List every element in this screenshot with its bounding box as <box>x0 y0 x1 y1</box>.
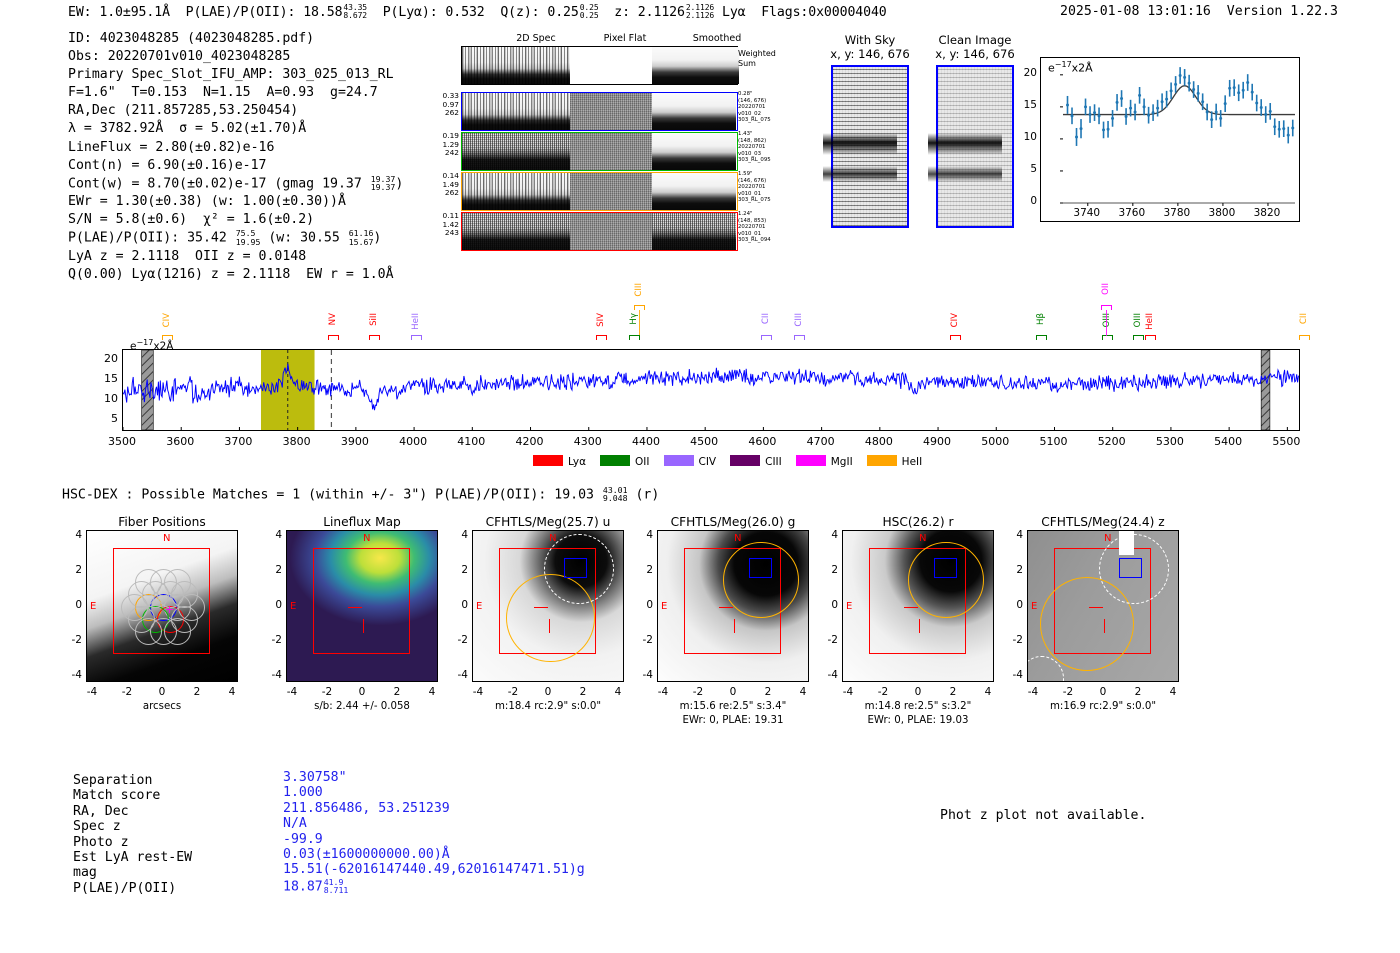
cutout-ytick: 0 <box>633 599 653 611</box>
header-summary-line: EW: 1.0±95.1Å P(LAE)/P(OII): 18.5843.358… <box>68 4 887 20</box>
aperture-box <box>313 548 410 654</box>
cutout-ytick: -4 <box>1003 669 1023 681</box>
hscdex-text-b: (r) <box>628 487 660 502</box>
spectrum-xtick: 5400 <box>1202 435 1254 448</box>
compass-north: N <box>363 533 370 544</box>
fiber1-pixelflat <box>570 93 652 130</box>
cutout-ytick: 2 <box>62 564 82 576</box>
info-plae-bounds: 75.519.95 <box>236 229 261 246</box>
source-ellipse <box>723 542 799 618</box>
match-table-labels: SeparationMatch scoreRA, DecSpec zPhoto … <box>73 773 192 896</box>
emission-bracket <box>596 335 607 340</box>
cutout-xtick: 0 <box>1088 686 1118 698</box>
spectrum-xtick: 3800 <box>271 435 323 448</box>
fiber2-smoothed <box>652 133 736 170</box>
spectrum-xtick: 4100 <box>445 435 497 448</box>
cutout-xtick: 4 <box>1158 686 1188 698</box>
cutout-ytick: -2 <box>1003 634 1023 646</box>
cutout-title-1: Lineflux Map <box>262 515 462 529</box>
spectrum-ytick: 5 <box>92 412 118 425</box>
cutout-ytick: 4 <box>62 529 82 541</box>
cutout-ytick: -2 <box>633 634 653 646</box>
header-z-bounds: 2.11262.1126 <box>686 4 714 20</box>
emission-label-ciii: CIII <box>794 313 804 327</box>
cutout-caption-1: s/b: 2.44 +/- 0.058 <box>256 701 468 712</box>
full-spectrum-units: e−17x2Å <box>130 338 173 353</box>
emission-bracket <box>411 335 422 340</box>
weighted-sum-row <box>461 46 738 85</box>
emission-bracket <box>761 335 772 340</box>
cutout-xtick: 2 <box>938 686 968 698</box>
legend-label: MgII <box>831 456 853 468</box>
legend-item-lyα: Lyα <box>533 456 586 468</box>
emission-label-cii: CII <box>761 313 771 324</box>
hscdex-text-a: HSC-DEX : Possible Matches = 1 (within +… <box>62 487 602 502</box>
gmag-bounds: 19.3719.37 <box>371 175 396 192</box>
clean-image-panel: Clean Image x, y: 146, 676 <box>925 33 1025 228</box>
match-label-1: Match score <box>73 788 192 803</box>
info-sn: S/N = 5.8(±0.6) χ² = 1.6(±0.2) <box>68 211 403 229</box>
legend-swatch <box>600 455 630 466</box>
spectrum-xtick: 5000 <box>969 435 1021 448</box>
legend-swatch <box>796 455 826 466</box>
compass-north: N <box>163 533 170 544</box>
fiber-row-3-left-label: 0.14 1.49 262 <box>425 172 459 198</box>
cutout-ytick: 4 <box>818 529 838 541</box>
source-ellipse <box>908 542 984 618</box>
cutout-ytick: 0 <box>448 599 468 611</box>
emission-label-hγ: Hγ <box>629 313 639 325</box>
crosshair <box>919 619 920 633</box>
info-lambda: λ = 3782.92Å σ = 5.02(±1.70)Å <box>68 120 403 138</box>
zoom-xtick: 3800 <box>1202 207 1242 219</box>
cutout-image-5[interactable]: NE <box>1027 530 1179 682</box>
info-cont-w: Cont(w) = 8.70(±0.02)e-17 (gmag 19.37 19… <box>68 175 403 193</box>
fiber2-2dspec <box>462 133 570 170</box>
emission-bracket <box>1299 335 1310 340</box>
legend-label: CIV <box>699 456 717 468</box>
match-value-text: 1.000 <box>283 785 323 800</box>
header-plya: P(Lyα): 0.532 <box>383 5 485 20</box>
zoom-ytick: 10 <box>1019 131 1037 143</box>
spectrum-xtick: 4300 <box>562 435 614 448</box>
compass-east: E <box>476 601 482 612</box>
legend-item-heii: HeII <box>867 456 923 468</box>
weighted-sum-label: Weighted Sum <box>738 49 798 69</box>
spectrum-xtick: 5300 <box>1144 435 1196 448</box>
with-sky-subtitle: x, y: 146, 676 <box>820 47 920 61</box>
cutout-title-0: Fiber Positions <box>62 515 262 529</box>
emission-bracket <box>328 335 339 340</box>
emission-stem <box>1106 310 1107 336</box>
match-label-6: mag <box>73 865 192 880</box>
legend-item-mgii: MgII <box>796 456 853 468</box>
cutout-image-4[interactable]: NE <box>842 530 994 682</box>
spectrum-ytick: 15 <box>92 372 118 385</box>
spectrum-xtick: 4200 <box>504 435 556 448</box>
info-cont-n: Cont(n) = 6.90(±0.16)e-17 <box>68 157 403 175</box>
timestamp: 2025-01-08 13:01:16 <box>1060 4 1211 19</box>
emission-label-civ: CIV <box>162 313 172 327</box>
clean-image-title: Clean Image <box>925 33 1025 47</box>
compass-north: N <box>549 533 556 544</box>
match-value-text: 15.51(-62016147440.49,62016147471.51)g <box>283 862 585 877</box>
emission-stem <box>639 310 640 336</box>
fiber-row-2-right-label: 1.43" (148, 862) 20220701 v010_03 303_RL… <box>738 131 798 164</box>
zoom-plot-units: e−17x2Å <box>1048 60 1093 75</box>
cutout-xtick: -4 <box>463 686 493 698</box>
header-lya: Lyα <box>722 5 746 20</box>
fiber1-smoothed <box>652 93 736 130</box>
match-value-text: N/A <box>283 816 307 831</box>
cutout-ytick: 2 <box>448 564 468 576</box>
cutout-xtick: -4 <box>833 686 863 698</box>
cutout-ytick: 2 <box>1003 564 1023 576</box>
cutout-caption-2: EWr: 0, PLAE: 19.03 <box>812 715 1024 726</box>
cutout-ytick: 0 <box>1003 599 1023 611</box>
match-value-5: 0.03(±1600000000.00)Å <box>283 847 585 862</box>
info-obs: Obs: 20220701v010_4023048285 <box>68 48 403 66</box>
header-qz-bounds: 0.250.25 <box>580 4 599 20</box>
emission-bracket <box>1145 335 1156 340</box>
zoom-xtick: 3820 <box>1247 207 1287 219</box>
fiber4-pixelflat <box>570 213 652 250</box>
match-plae-bounds: 41.98.711 <box>324 878 349 895</box>
emission-label-oii: OII <box>1101 283 1111 295</box>
fiber-row-4-left-label: 0.11 1.42 243 <box>425 212 459 238</box>
fiber-row-4-right-label: 1.24" (148, 853) 20220701 v010_01 303_RL… <box>738 211 798 244</box>
cutout-ytick: -2 <box>448 634 468 646</box>
emission-label-oiii: OIII <box>1102 313 1112 327</box>
cutout-xtick: 0 <box>347 686 377 698</box>
emission-label-nv: NV <box>328 313 338 325</box>
cutout-xtick: 2 <box>753 686 783 698</box>
cutout-image-2[interactable]: NE <box>472 530 624 682</box>
spectrum-xtick: 3900 <box>329 435 381 448</box>
with-sky-trace-2 <box>823 166 897 182</box>
match-value-text: -99.9 <box>283 832 323 847</box>
cutout-ytick: 2 <box>818 564 838 576</box>
header-ew: EW: 1.0±95.1Å <box>68 5 170 20</box>
fiber3-2dspec <box>462 173 570 210</box>
cutout-ytick: 0 <box>818 599 838 611</box>
zoom-xtick: 3760 <box>1112 207 1152 219</box>
cutout-ytick: 0 <box>62 599 82 611</box>
legend-swatch <box>730 455 760 466</box>
fiber4-2dspec <box>462 213 570 250</box>
cutout-xtick: -2 <box>1053 686 1083 698</box>
spectrum-xtick: 3700 <box>212 435 264 448</box>
header-z: z: 2.1126 <box>614 5 685 20</box>
header-timestamp-version: 2025-01-08 13:01:16 Version 1.22.3 <box>1060 4 1338 19</box>
fiber-row-3 <box>461 172 738 211</box>
match-table-values: 3.30758"1.000211.856486, 53.251239N/A-99… <box>283 770 585 895</box>
emission-label-ciii: CIII <box>634 283 644 297</box>
with-sky-trace <box>823 133 897 155</box>
clean-image-subtitle: x, y: 146, 676 <box>925 47 1025 61</box>
cutout-title-3: CFHTLS/Meg(26.0) g <box>633 515 833 529</box>
emission-bracket <box>1036 335 1047 340</box>
cutout-ytick: 4 <box>633 529 653 541</box>
emission-label-oiii: OIII <box>1133 313 1143 327</box>
plae-lo: 8.711 <box>324 886 349 894</box>
cutout-caption-1: m:15.6 re:2.5" s:3.4" <box>627 701 839 712</box>
emission-bracket <box>950 335 961 340</box>
spectrum-xtick: 3500 <box>96 435 148 448</box>
cutout-xtick: 2 <box>568 686 598 698</box>
fiber-row-1-left-label: 0.33 0.97 262 <box>425 92 459 118</box>
cutout-ytick: -4 <box>262 669 282 681</box>
match-label-7: P(LAE)/P(OII) <box>73 881 192 896</box>
cutout-ytick: -2 <box>262 634 282 646</box>
weighted-sum-pixelflat <box>570 47 652 84</box>
cutout-xtick: 2 <box>182 686 212 698</box>
emission-bracket <box>369 335 380 340</box>
cutout-caption-1: arcsecs <box>56 701 268 712</box>
header-plae-bounds: 43.358.672 <box>343 4 367 20</box>
weighted-sum-smoothed <box>652 47 739 84</box>
cutout-image-3[interactable]: NE <box>657 530 809 682</box>
emission-bracket <box>1133 335 1144 340</box>
emission-label-civ: CIV <box>950 313 960 327</box>
crosshair <box>348 607 362 608</box>
cutout-ytick: -4 <box>633 669 653 681</box>
aperture-box <box>113 548 210 654</box>
cutout-image-0[interactable]: +NE <box>86 530 238 682</box>
dashed-aperture <box>1099 534 1169 604</box>
zoom-ytick: 15 <box>1019 99 1037 111</box>
cutout-ytick: 2 <box>633 564 653 576</box>
legend-swatch <box>867 455 897 466</box>
spectrum-xtick: 4400 <box>620 435 672 448</box>
hscdex-plae-bounds: 43.019.048 <box>603 486 628 503</box>
cutout-xtick: -2 <box>498 686 528 698</box>
cutout-xtick: 0 <box>718 686 748 698</box>
zoom-plot-frame <box>1040 57 1300 222</box>
dashed-aperture <box>544 534 614 604</box>
cutout-ytick: 4 <box>1003 529 1023 541</box>
spectrum-xtick: 4800 <box>853 435 905 448</box>
cutout-xtick: -4 <box>648 686 678 698</box>
header-plae-label: P(LAE)/P(OII): <box>186 5 296 20</box>
emission-bracket <box>1102 335 1113 340</box>
cutout-ytick: 4 <box>448 529 468 541</box>
spectrum-ytick: 20 <box>92 352 118 365</box>
info-lineflux: LineFlux = 2.80(±0.82)e-16 <box>68 139 403 157</box>
emission-bracket <box>629 335 640 340</box>
legend-label: OII <box>635 456 649 468</box>
emission-label-siv: SIV <box>596 313 606 327</box>
two-d-spectrum-panel: 2D Spec Pixel Flat Smoothed Weighted Sum… <box>425 33 765 258</box>
cutout-ytick: 4 <box>262 529 282 541</box>
spectrum-xtick: 4700 <box>795 435 847 448</box>
cutout-ytick: 0 <box>262 599 282 611</box>
cutout-xtick: 2 <box>1123 686 1153 698</box>
match-label-4: Photo z <box>73 835 192 850</box>
match-value-text: 211.856486, 53.251239 <box>283 801 450 816</box>
compass-north: N <box>919 533 926 544</box>
crosshair <box>734 619 735 633</box>
version: Version 1.22.3 <box>1227 4 1338 19</box>
compass-east: E <box>661 601 667 612</box>
cutout-xtick: 4 <box>603 686 633 698</box>
crosshair <box>904 607 918 608</box>
cutout-xtick: 0 <box>903 686 933 698</box>
fiber2-pixelflat <box>570 133 652 170</box>
crosshair <box>363 619 364 633</box>
hscdex-summary: HSC-DEX : Possible Matches = 1 (within +… <box>62 486 659 503</box>
match-value-text: 0.03(±1600000000.00)Å <box>283 847 450 862</box>
info-slot: Primary Spec_Slot_IFU_AMP: 303_025_013_R… <box>68 66 403 84</box>
cutout-title-2: CFHTLS/Meg(25.7) u <box>448 515 648 529</box>
compass-north: N <box>1104 533 1111 544</box>
cutout-ytick: -4 <box>448 669 468 681</box>
info-ewr: EWr = 1.30(±0.38) (w: 1.00(±0.30))Å <box>68 193 403 211</box>
with-sky-panel: With Sky x, y: 146, 676 <box>820 33 920 228</box>
info-lyaz: LyA z = 2.1118 OII z = 0.0148 <box>68 248 403 266</box>
legend-swatch <box>533 455 563 466</box>
match-value-0: 3.30758" <box>283 770 585 785</box>
zoom-plot-svg <box>1041 58 1299 221</box>
emission-bracket <box>794 335 805 340</box>
compass-east: E <box>290 601 296 612</box>
spectrum-xtick: 3600 <box>154 435 206 448</box>
match-value-4: -99.9 <box>283 832 585 847</box>
fiber-row-2-left-label: 0.19 1.29 242 <box>425 132 459 158</box>
legend-item-civ: CIV <box>664 456 717 468</box>
cutout-xtick: -2 <box>683 686 713 698</box>
fiber-row-1-right-label: 0.28" (146, 676) 20220701 v010_02 303_RL… <box>738 91 798 124</box>
cutout-ytick: 2 <box>262 564 282 576</box>
spectrum-xtick: 4000 <box>387 435 439 448</box>
emission-label-hβ: Hβ <box>1036 313 1046 325</box>
emission-label-siii: SiII <box>369 313 379 326</box>
emission-label-heii: HeII <box>411 313 421 330</box>
spectrum-legend: LyαOIICIVCIIIMgIIHeII <box>533 455 936 468</box>
legend-item-ciii: CIII <box>730 456 782 468</box>
compass-east: E <box>846 601 852 612</box>
photoz-note: Phot z plot not available. <box>940 808 1146 823</box>
header-plae-value: 18.58 <box>303 5 342 20</box>
weighted-sum-2dspec <box>462 47 570 84</box>
emission-label-heii: HeII <box>1145 313 1155 330</box>
legend-swatch <box>664 455 694 466</box>
cutout-caption-1: m:18.4 rc:2.9" s:0.0" <box>442 701 654 712</box>
legend-label: CIII <box>765 456 782 468</box>
fiber-row-2 <box>461 132 738 171</box>
cutout-xtick: 0 <box>533 686 563 698</box>
spectrum-xtick: 4900 <box>911 435 963 448</box>
match-label-0: Separation <box>73 773 192 788</box>
zoom-ytick: 0 <box>1019 195 1037 207</box>
full-spectrum-frame <box>122 349 1300 431</box>
cutout-title-4: HSC(26.2) r <box>818 515 1018 529</box>
cutout-ytick: -2 <box>62 634 82 646</box>
legend-label: HeII <box>902 456 923 468</box>
match-value-3: N/A <box>283 816 585 831</box>
masked-pixels <box>1119 531 1134 555</box>
compass-north: N <box>734 533 741 544</box>
spectrum-xtick: 5500 <box>1260 435 1312 448</box>
clean-image-trace <box>928 133 1002 155</box>
cutout-ytick: -4 <box>818 669 838 681</box>
info-seeing: F=1.6" T=0.153 N=1.15 A=0.93 g=24.7 <box>68 84 403 102</box>
spectrum-xtick: 5100 <box>1027 435 1079 448</box>
fiber1-2dspec <box>462 93 570 130</box>
cutout-caption-1: m:14.8 re:2.5" s:3.2" <box>812 701 1024 712</box>
cutout-image-1[interactable]: NE <box>286 530 438 682</box>
zoom-xtick: 3780 <box>1157 207 1197 219</box>
match-value-2: 211.856486, 53.251239 <box>283 801 585 816</box>
cutout-caption-1: m:16.9 rc:2.9" s:0.0" <box>997 701 1209 712</box>
header-qz: Q(z): 0.25 <box>500 5 578 20</box>
cutout-xtick: 4 <box>788 686 818 698</box>
cutout-caption-2: EWr: 0, PLAE: 19.31 <box>627 715 839 726</box>
cutout-xtick: 0 <box>147 686 177 698</box>
match-value-text: 18.87 <box>283 879 323 894</box>
spectrum-ytick: 10 <box>92 392 118 405</box>
fiber-row-3-right-label: 1.59" (146, 676) 20220701 v010_01 303_RL… <box>738 171 798 204</box>
spectrum-xtick: 4600 <box>736 435 788 448</box>
info-plaew-bounds: 61.1615.67 <box>349 229 374 246</box>
cutout-xtick: -2 <box>868 686 898 698</box>
match-box <box>934 558 957 578</box>
cutout-xtick: -4 <box>1018 686 1048 698</box>
spectrum-xtick: 5200 <box>1086 435 1138 448</box>
info-qline: Q(0.00) Lyα(1216) z = 2.1118 EW r = 1.0Å <box>68 266 403 284</box>
clean-image-trace-2 <box>928 166 1002 182</box>
cutout-xtick: -2 <box>312 686 342 698</box>
cutout-xtick: 4 <box>217 686 247 698</box>
fiber-row-4 <box>461 212 738 251</box>
cutout-xtick: -4 <box>77 686 107 698</box>
legend-label: Lyα <box>568 456 586 468</box>
cutout-ytick: -4 <box>62 669 82 681</box>
compass-east: E <box>1031 601 1037 612</box>
match-label-2: RA, Dec <box>73 804 192 819</box>
fiber3-smoothed <box>652 173 736 210</box>
match-label-3: Spec z <box>73 819 192 834</box>
fiber-row-1 <box>461 92 738 131</box>
full-spectrum-svg <box>123 350 1299 430</box>
legend-item-oii: OII <box>600 456 649 468</box>
col-title-smoothed: Smoothed <box>657 33 777 44</box>
cutout-xtick: -4 <box>277 686 307 698</box>
fiber4-smoothed <box>652 213 736 250</box>
cutout-xtick: 4 <box>417 686 447 698</box>
match-value-text: 3.30758" <box>283 770 347 785</box>
match-value-6: 15.51(-62016147440.49,62016147471.51)g <box>283 862 585 877</box>
zoom-ytick: 5 <box>1019 163 1037 175</box>
emission-label-cii: CII <box>1299 313 1309 324</box>
info-plae: P(LAE)/P(OII): 35.42 75.519.95 (w: 30.55… <box>68 229 403 247</box>
cutout-xtick: -2 <box>112 686 142 698</box>
cutout-xtick: 4 <box>973 686 1003 698</box>
info-radec: RA,Dec (211.857285,53.250454) <box>68 102 403 120</box>
match-value-1: 1.000 <box>283 785 585 800</box>
fiber3-pixelflat <box>570 173 652 210</box>
cutout-xtick: 2 <box>382 686 412 698</box>
spectrum-xtick: 4500 <box>678 435 730 448</box>
cutout-title-5: CFHTLS/Meg(24.4) z <box>1003 515 1203 529</box>
crosshair <box>719 607 733 608</box>
source-info-block: ID: 4023048285 (4023048285.pdf) Obs: 202… <box>68 30 403 284</box>
with-sky-title: With Sky <box>820 33 920 47</box>
compass-east: E <box>90 601 96 612</box>
header-flags: Flags:0x00004040 <box>761 5 886 20</box>
match-box <box>749 558 772 578</box>
match-value-7: 18.8741.98.711 <box>283 878 585 895</box>
